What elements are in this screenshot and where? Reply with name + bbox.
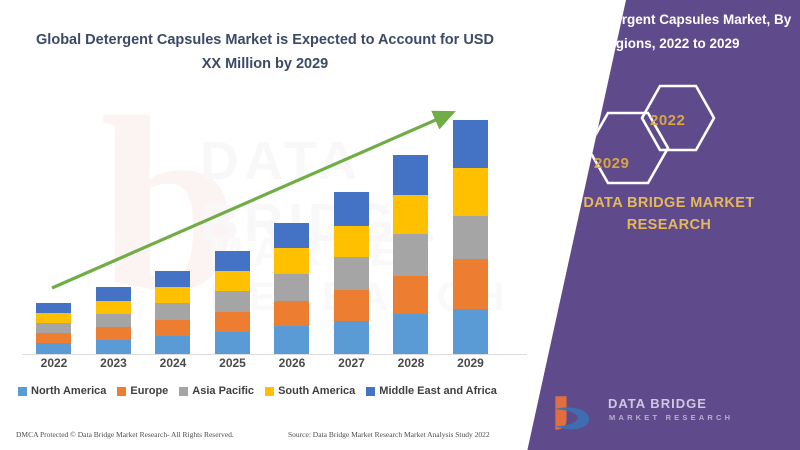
legend-label: North America [31, 385, 106, 397]
infographic-page: b DATA BRIDGE MARKET RESEARCH Global Det… [0, 0, 800, 450]
chart-legend: North AmericaEuropeAsia PacificSouth Ame… [18, 385, 548, 397]
legend-item[interactable]: South America [265, 385, 355, 397]
bar-segment [393, 234, 428, 276]
bar-2028 [393, 155, 428, 354]
bar-segment [334, 321, 369, 354]
bar-segment [155, 271, 190, 287]
bar-segment [155, 287, 190, 303]
page-title: Global Detergent Capsules Market is Expe… [30, 28, 500, 76]
legend-swatch-icon [18, 387, 27, 396]
bar-segment [453, 216, 488, 259]
footer-copyright: DMCA Protected © Data Bridge Market Rese… [16, 430, 234, 439]
bar-segment [36, 333, 71, 343]
stacked-bar-chart [0, 95, 540, 355]
legend-swatch-icon [117, 387, 126, 396]
bar-segment [334, 192, 369, 226]
right-panel: Global Detergent Capsules Market, By Reg… [510, 0, 800, 450]
bar-2022 [36, 303, 71, 354]
legend-label: Asia Pacific [192, 385, 254, 397]
x-label-2028: 2028 [381, 356, 441, 370]
bar-segment [215, 291, 250, 312]
bar-2025 [215, 251, 250, 354]
bar-segment [393, 155, 428, 195]
bar-segment [96, 287, 131, 301]
bar-2023 [96, 287, 131, 354]
legend-label: Europe [130, 385, 168, 397]
legend-item[interactable]: North America [18, 385, 106, 397]
bar-segment [334, 257, 369, 290]
bar-2027 [334, 192, 369, 354]
bar-segment [96, 340, 131, 354]
bar-2026 [274, 223, 309, 354]
x-label-2023: 2023 [84, 356, 144, 370]
x-axis-labels: 20222023202420252026202720282029 [0, 356, 540, 378]
x-label-2027: 2027 [322, 356, 382, 370]
legend-swatch-icon [366, 387, 375, 396]
bar-segment [36, 343, 71, 354]
dbmr-logo-wordmark: DATA BRIDGE [608, 396, 707, 411]
dbmr-logo-mark [546, 392, 602, 436]
x-label-2024: 2024 [143, 356, 203, 370]
bar-segment [96, 314, 131, 327]
bar-segment [155, 336, 190, 354]
legend-item[interactable]: Europe [117, 385, 168, 397]
bar-segment [274, 223, 309, 248]
bar-segment [96, 327, 131, 340]
bar-segment [215, 332, 250, 354]
bar-segment [274, 301, 309, 326]
bar-segment [155, 303, 190, 320]
bar-segment [215, 251, 250, 271]
bar-segment [393, 314, 428, 354]
bar-2029 [453, 120, 488, 354]
x-label-2025: 2025 [203, 356, 263, 370]
bar-segment [334, 226, 369, 257]
footer-source: Source: Data Bridge Market Research Mark… [288, 430, 490, 439]
bar-segment [215, 312, 250, 332]
x-label-2022: 2022 [24, 356, 84, 370]
bar-2024 [155, 271, 190, 354]
bar-segment [453, 168, 488, 216]
x-axis-line [22, 354, 527, 355]
x-label-2026: 2026 [262, 356, 322, 370]
legend-swatch-icon [179, 387, 188, 396]
bar-segment [274, 274, 309, 301]
hexagon-2022-label: 2022 [650, 112, 685, 129]
bar-segment [393, 195, 428, 234]
panel-brand-text: DATA BRIDGE MARKET RESEARCH [554, 192, 784, 236]
bar-segment [274, 326, 309, 354]
bar-segment [215, 271, 250, 291]
legend-label: Middle East and Africa [379, 385, 497, 397]
hexagon-2029-label: 2029 [594, 155, 629, 172]
dbmr-logo-subwordmark: MARKET RESEARCH [609, 413, 733, 422]
bar-segment [274, 248, 309, 274]
bar-segment [334, 290, 369, 321]
legend-label: South America [278, 385, 355, 397]
bar-segment [453, 309, 488, 354]
bar-segment [453, 120, 488, 168]
bar-segment [393, 276, 428, 314]
bar-segment [36, 303, 71, 313]
dbmr-logo: DATA BRIDGE MARKET RESEARCH [546, 392, 776, 438]
bar-segment [155, 320, 190, 336]
bar-segment [96, 301, 131, 314]
legend-swatch-icon [265, 387, 274, 396]
legend-item[interactable]: Middle East and Africa [366, 385, 497, 397]
bar-segment [36, 323, 71, 333]
bar-segment [36, 313, 71, 323]
x-label-2029: 2029 [441, 356, 501, 370]
legend-item[interactable]: Asia Pacific [179, 385, 254, 397]
bar-segment [453, 259, 488, 309]
